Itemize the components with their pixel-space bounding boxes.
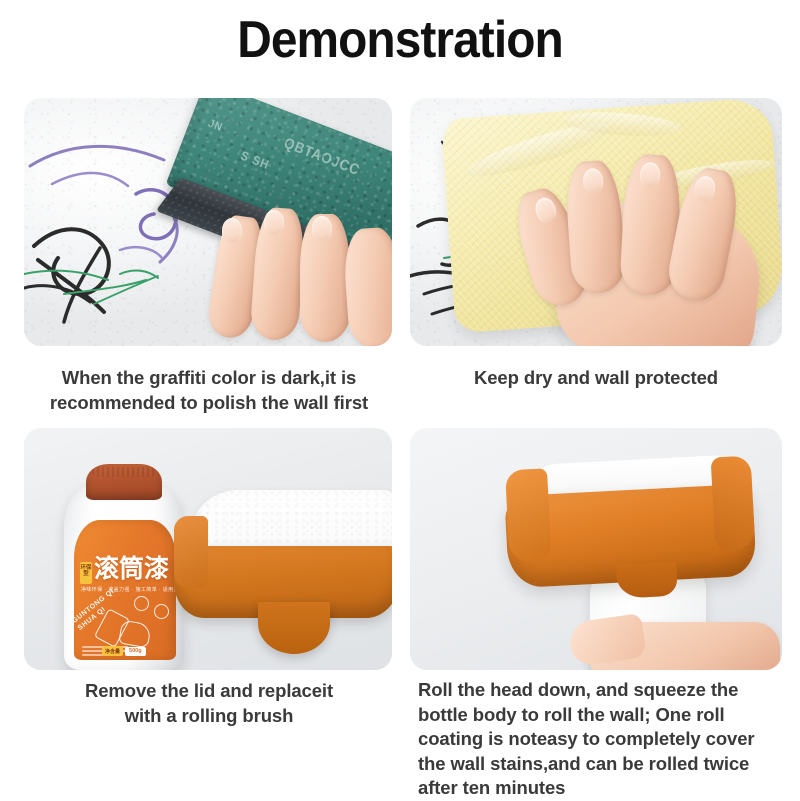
roller-side-arm xyxy=(174,516,208,588)
bottle-cap xyxy=(86,464,162,500)
bottle-label: 环保型 滚筒漆 净味环保 · 遮盖力强 · 施工简单 · 适用多种墙面 GUNT… xyxy=(74,520,176,660)
hand xyxy=(202,206,392,346)
fingernail xyxy=(312,216,332,241)
fingernail xyxy=(264,210,284,235)
roller-stem xyxy=(258,602,330,654)
sanding-block-print-2: S SH xyxy=(239,149,272,173)
caption-line: Keep dry and wall protected xyxy=(410,365,782,390)
caption-step-1: When the graffiti color is dark,it is re… xyxy=(14,365,404,415)
caption-line: When the graffiti color is dark,it is xyxy=(14,365,404,390)
sanding-block-print-1: QBTAOJCC xyxy=(282,134,363,179)
demo-photo-step-3: 环保型 滚筒漆 净味环保 · 遮盖力强 · 施工简单 · 适用多种墙面 GUNT… xyxy=(24,428,392,670)
caption-step-3: Remove the lid and replaceit with a roll… xyxy=(14,678,404,728)
roller-side-arm xyxy=(711,456,756,552)
caption-line: the wall stains,and can be rolled twice xyxy=(418,752,792,777)
caption-step-2: Keep dry and wall protected xyxy=(410,365,782,390)
caption-line: Roll the head down, and squeeze the xyxy=(418,678,792,703)
caption-step-4: Roll the head down, and squeeze the bott… xyxy=(418,678,792,801)
demo-photo-step-4 xyxy=(410,428,782,670)
caption-line: coating is noteasy to completely cover xyxy=(418,727,792,752)
label-weight-badge: 净含量 500g xyxy=(102,646,146,656)
roller-head xyxy=(174,490,392,660)
weight-value: 500g xyxy=(125,647,146,656)
demo-photo-step-1: QBTAOJCC S SH JN xyxy=(24,98,392,346)
label-side-badge: 环保型 xyxy=(80,562,92,584)
caption-line: bottle body to roll the wall; One roll xyxy=(418,703,792,728)
caption-line: after ten minutes xyxy=(418,776,792,801)
hand-line-art xyxy=(118,620,152,649)
roller-side-arm xyxy=(505,468,552,562)
label-badge-icon xyxy=(134,596,149,611)
label-illustration xyxy=(100,612,150,646)
weight-tag: 净含量 xyxy=(102,646,123,656)
caption-line: recommended to polish the wall first xyxy=(14,390,404,415)
label-title: 滚筒漆 xyxy=(94,556,169,582)
paint-bottle: 环保型 滚筒漆 净味环保 · 遮盖力强 · 施工简单 · 适用多种墙面 GUNT… xyxy=(60,464,188,670)
page-title: Demonstration xyxy=(32,10,768,70)
caption-line: Remove the lid and replaceit xyxy=(14,678,404,703)
hand xyxy=(570,604,782,670)
demo-photo-step-2 xyxy=(410,98,782,346)
caption-line: with a rolling brush xyxy=(14,703,404,728)
sanding-block-print-3: JN xyxy=(206,117,224,134)
fingernail xyxy=(222,218,242,243)
label-badge-icon xyxy=(154,604,169,619)
label-subtitle: 净味环保 · 遮盖力强 · 施工简单 · 适用多种墙面 xyxy=(81,586,171,593)
roller-head xyxy=(503,454,757,597)
finger xyxy=(342,226,392,346)
cloth-fold xyxy=(561,109,682,139)
hand xyxy=(508,134,779,346)
